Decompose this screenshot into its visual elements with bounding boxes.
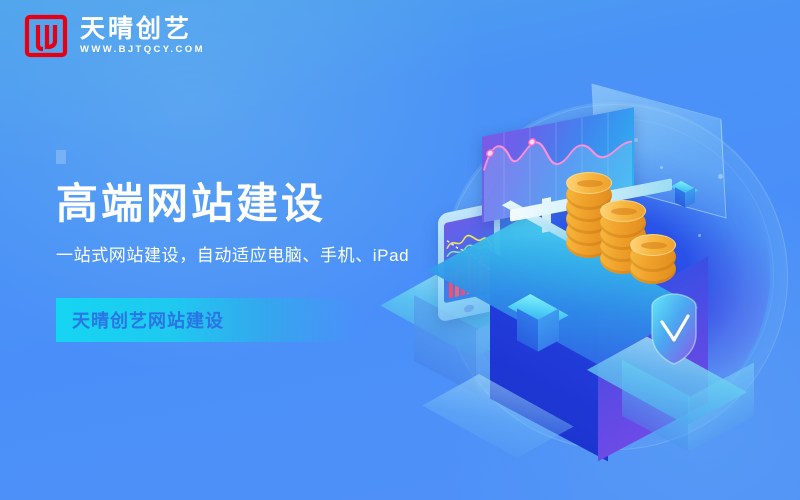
decor-dot: [660, 166, 663, 169]
page-title: 高端网站建设: [56, 180, 486, 227]
hero-banner: 天晴创艺 WWW.BJTQCY.COM 高端网站建设 一站式网站建设，自动适应电…: [0, 0, 800, 500]
isometric-cube-small: [672, 180, 698, 210]
isometric-cube-large: [510, 292, 566, 356]
logo-company-name: 天晴创艺: [80, 17, 205, 42]
decor-dot: [698, 234, 701, 237]
cta-button[interactable]: 天晴创艺网站建设: [56, 298, 396, 342]
cta-button-label: 天晴创艺网站建设: [56, 307, 224, 333]
tqcy-logo-mark-icon: [24, 14, 68, 58]
page-subtitle: 一站式网站建设，自动适应电脑、手机、iPad: [56, 245, 486, 267]
hero-accent-mark: [56, 150, 66, 164]
logo-website-url: WWW.BJTQCY.COM: [80, 45, 205, 55]
security-shield: [646, 292, 702, 366]
smartphone-home-button: [464, 304, 474, 313]
hero-copy: 高端网站建设 一站式网站建设，自动适应电脑、手机、iPad: [56, 150, 486, 293]
site-logo[interactable]: 天晴创艺 WWW.BJTQCY.COM: [24, 14, 205, 58]
decor-dot: [718, 174, 723, 179]
logo-text-block: 天晴创艺 WWW.BJTQCY.COM: [80, 17, 205, 55]
